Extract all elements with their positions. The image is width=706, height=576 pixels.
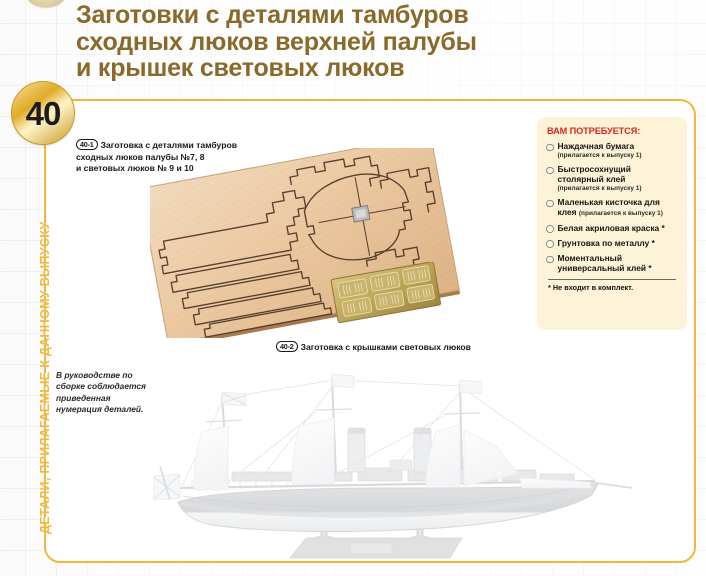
materials-list-item-note: (прилагается к выпуску 1)	[558, 185, 679, 193]
materials-list-item-note: (прилагается к выпуску 1)	[579, 210, 663, 217]
materials-list-item[interactable]: Маленькая кисточка для клея (прилагается…	[546, 198, 678, 218]
brass-photoetch-image	[328, 262, 446, 324]
materials-list: Наждачная бумага(прилагается к выпуску 1…	[546, 142, 678, 274]
part-caption-40-1-line-2: сходных люков палубы №7, 8	[76, 152, 204, 162]
side-rail-label: ДЕТАЛИ, ПРИЛАГАЕМЫЕ К ДАННОМУ ВЫПУСКУ	[38, 140, 52, 534]
materials-list-item[interactable]: Грунтовка по металлу *	[546, 239, 678, 249]
assembly-numbering-note: В руководстве по сборке соблюдается прив…	[56, 370, 150, 416]
materials-list-item[interactable]: Наждачная бумага(прилагается к выпуску 1…	[546, 142, 678, 160]
checkbox-circle-icon[interactable]	[546, 240, 554, 248]
part-caption-40-1-line-3: и световых люков № 9 и 10	[76, 163, 194, 173]
ship-model-photo	[140, 362, 686, 570]
part-caption-40-2: 40-2Заготовка с крышками световых люков	[276, 341, 516, 354]
materials-list-item[interactable]: Быстросохнущий столярный клей(прилагаетс…	[546, 165, 678, 193]
page-title-line-1: Заготовки с деталями тамбуров	[76, 2, 546, 29]
checkbox-circle-icon[interactable]	[546, 225, 554, 233]
materials-panel-title: ВАМ ПОТРЕБУЕТСЯ:	[547, 126, 678, 136]
page-title-line-2: сходных люков верхней палубы	[76, 29, 546, 56]
materials-list-item-label: Маленькая кисточка для клея (прилагается…	[558, 198, 679, 218]
materials-list-item[interactable]: Моментальный универсальный клей *	[546, 254, 678, 274]
materials-panel: ВАМ ПОТРЕБУЕТСЯ: Наждачная бумага(прилаг…	[537, 117, 687, 330]
materials-list-item-label: Грунтовка по металлу *	[558, 239, 655, 249]
part-caption-40-1-line-1: Заготовка с деталями тамбуров	[101, 140, 237, 150]
part-caption-40-2-line-1: Заготовка с крышками световых люков	[301, 342, 471, 352]
materials-divider	[548, 279, 676, 280]
materials-list-item-label: Моментальный универсальный клей *	[558, 254, 679, 274]
page-title-line-3: и крышек световых люков	[76, 55, 546, 82]
checkbox-circle-icon[interactable]	[546, 144, 554, 152]
materials-list-item[interactable]: Белая акриловая краска *	[546, 224, 678, 234]
materials-footnote: * Не входит в комплект.	[548, 283, 678, 292]
part-tag-40-2: 40-2	[276, 341, 298, 352]
materials-list-item-label: Быстросохнущий столярный клей(прилагаетс…	[558, 165, 679, 193]
page-root: Заготовки с деталями тамбуров сходных лю…	[0, 0, 706, 576]
materials-list-item-label: Белая акриловая краска *	[558, 224, 665, 234]
checkbox-circle-icon[interactable]	[546, 167, 554, 175]
materials-list-item-label: Наждачная бумага(прилагается к выпуску 1…	[558, 142, 642, 160]
part-caption-40-1: 40-1Заготовка с деталями тамбуров сходны…	[76, 139, 286, 175]
page-title: Заготовки с деталями тамбуров сходных лю…	[76, 2, 546, 82]
materials-list-item-note: (прилагается к выпуску 1)	[558, 152, 642, 160]
checkbox-circle-icon[interactable]	[546, 200, 554, 208]
issue-number-label: 40	[26, 97, 61, 130]
ship-model-svg	[140, 362, 686, 570]
issue-number-badge: 40	[12, 82, 74, 144]
side-rail: ДЕТАЛИ, ПРИЛАГАЕМЫЕ К ДАННОМУ ВЫПУСКУ	[34, 140, 54, 540]
part-tag-40-1: 40-1	[76, 139, 98, 150]
brass-photoetch-svg	[328, 262, 446, 324]
checkbox-circle-icon[interactable]	[546, 256, 554, 264]
